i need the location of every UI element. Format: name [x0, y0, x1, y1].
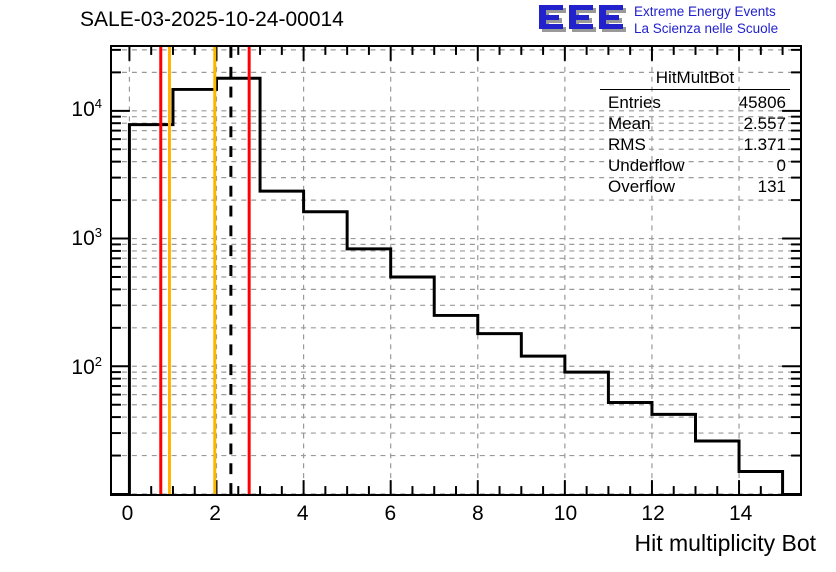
x-tick-label-14: 14	[721, 502, 761, 526]
eee-logo: Extreme Energy Events La Scienza nelle S…	[538, 2, 834, 40]
stat-row: RMS1.371	[600, 134, 790, 155]
stat-label: Underflow	[608, 155, 685, 176]
x-tick-label-4: 4	[283, 502, 323, 526]
x-tick-label-2: 2	[195, 502, 235, 526]
stat-value: 131	[758, 176, 786, 197]
stat-label: Overflow	[608, 176, 675, 197]
stats-rows: Entries45806Mean2.557RMS1.371Underflow0O…	[600, 92, 790, 197]
x-tick-label-10: 10	[545, 502, 585, 526]
stats-divider	[600, 89, 790, 90]
x-tick-label-6: 6	[370, 502, 410, 526]
eee-logo-line1: Extreme Energy Events	[634, 4, 776, 19]
stat-row: Underflow0	[600, 155, 790, 176]
eee-logo-line2: La Scienza nelle Scuole	[634, 20, 778, 37]
stat-value: 45806	[739, 92, 786, 113]
stat-row: Overflow131	[600, 176, 790, 197]
x-tick-label-0: 0	[108, 502, 148, 526]
x-axis-title: Hit multiplicity Bot	[635, 530, 816, 557]
y-tick-label-100: 102	[40, 354, 102, 380]
stat-row: Mean2.557	[600, 113, 790, 134]
stats-box: HitMultBot Entries45806Mean2.557RMS1.371…	[600, 68, 790, 197]
y-tick-label-10000: 104	[40, 96, 102, 122]
stat-row: Entries45806	[600, 92, 790, 113]
x-tick-label-8: 8	[458, 502, 498, 526]
eee-logo-mark	[538, 4, 630, 36]
stat-label: Mean	[608, 113, 651, 134]
eee-logo-text: Extreme Energy Events La Scienza nelle S…	[634, 3, 778, 37]
y-tick-label-1000: 103	[40, 225, 102, 251]
page-title: SALE-03-2025-10-24-00014	[80, 8, 344, 32]
stat-label: RMS	[608, 134, 646, 155]
x-tick-label-12: 12	[633, 502, 673, 526]
stat-value: 2.557	[743, 113, 786, 134]
stat-value: 1.371	[743, 134, 786, 155]
histogram-canvas: SALE-03-2025-10-24-00014	[0, 0, 836, 572]
stats-title: HitMultBot	[600, 68, 790, 89]
stat-label: Entries	[608, 92, 661, 113]
stat-value: 0	[777, 155, 786, 176]
